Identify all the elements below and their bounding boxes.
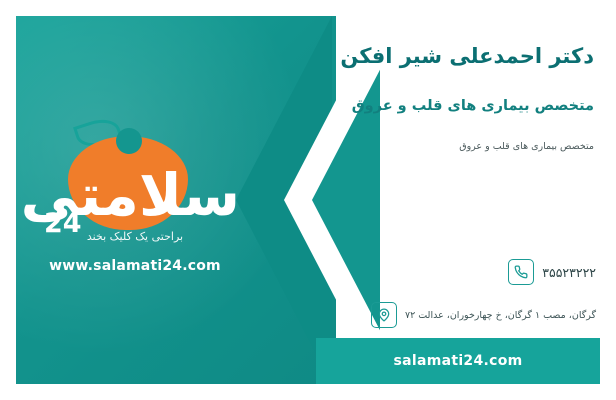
specialty-main: متخصص بیماری های قلب و عروق [352,98,594,114]
phone-icon [508,259,534,285]
specialty-sub: متخصص بیماری های قلب و عروق [459,141,594,152]
doctor-name: دکتر احمدعلی شیر افکن [340,44,594,68]
apple-bite-icon [116,128,142,154]
footer-website: salamati24.com [393,353,522,369]
logo-tagline: براحتی یک کلیک بخند [30,230,240,243]
address-row: گرگان، مصب ۱ گرگان، خ چهارخوران، عدالت ۷… [371,302,596,328]
business-card: سلامتی 24 براحتی یک کلیک بخند www.salama… [0,0,616,400]
map-pin-icon [371,302,397,328]
phone-number: ۳۵۵۲۳۲۲۲ [542,265,596,280]
brand-logo: سلامتی 24 براحتی یک کلیک بخند www.salama… [30,112,240,302]
card-details: دکتر احمدعلی شیر افکن متخصص بیماری های ق… [346,16,600,384]
card-inner-frame: سلامتی 24 براحتی یک کلیک بخند www.salama… [16,16,600,384]
logo-website-url: www.salamati24.com [30,258,240,274]
phone-row: ۳۵۵۲۳۲۲۲ [508,259,596,285]
website-footer-bar: salamati24.com [316,338,600,384]
address-text: گرگان، مصب ۱ گرگان، خ چهارخوران، عدالت ۷… [405,310,596,321]
